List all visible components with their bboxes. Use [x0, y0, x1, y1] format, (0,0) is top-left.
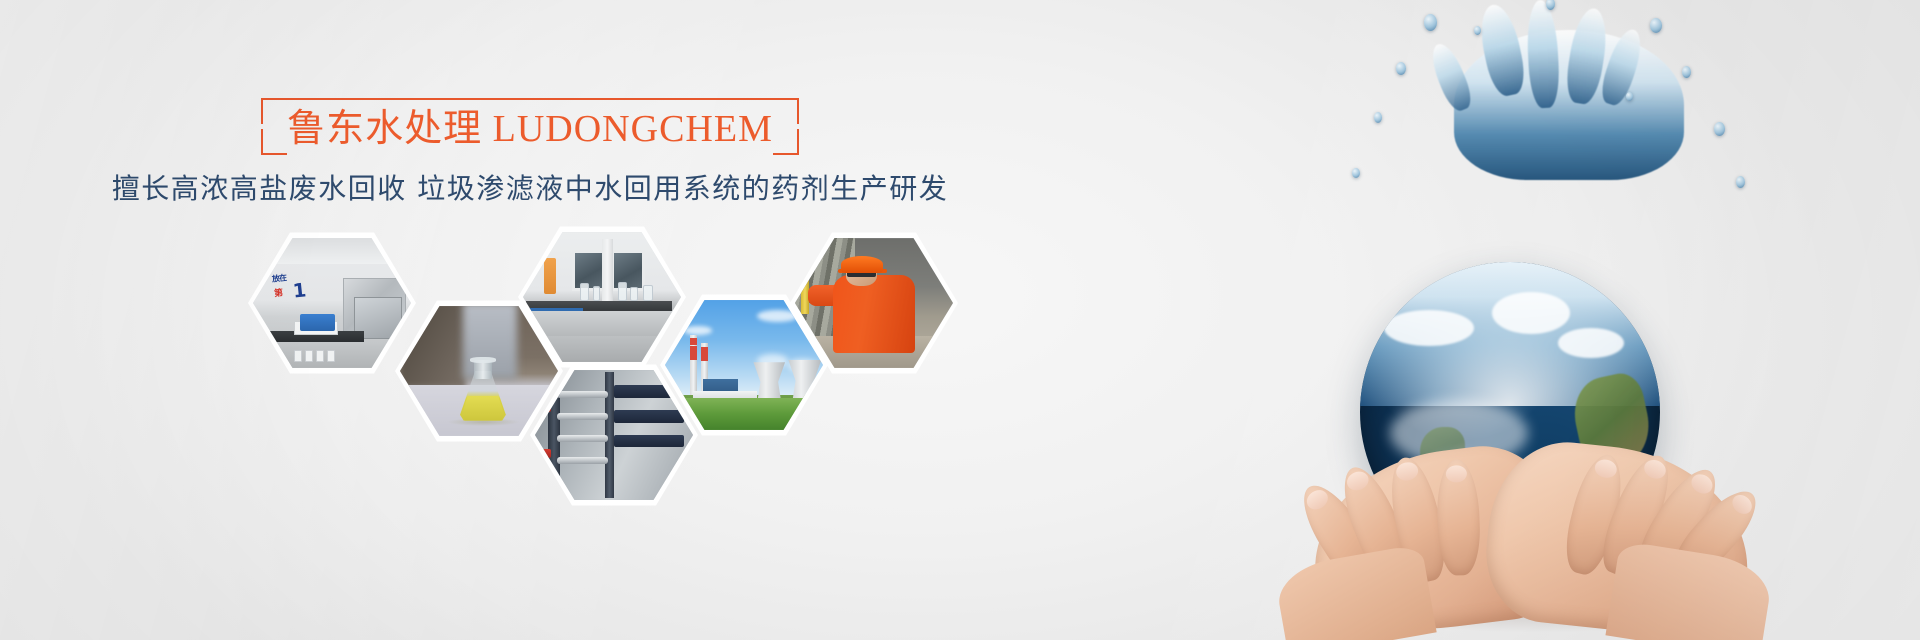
- left-wrist: [1273, 544, 1436, 640]
- hexagon-tile-lab-control-room[interactable]: 放在 第 1: [248, 228, 416, 378]
- hexagon-image-mask: 放在 第 1: [253, 234, 411, 372]
- right-wrist: [1605, 540, 1774, 640]
- photo-ro-membrane-skid: [535, 366, 693, 504]
- wall-slogan-mid: 第: [273, 286, 282, 300]
- hexagon-photo-cluster: 放在 第 1: [0, 0, 1000, 640]
- banner-root: 鲁东水处理 LUDONGCHEM 擅长高浓高盐废水回收 垃圾渗滤液中水回用系统的…: [0, 0, 1920, 640]
- water-globe-graphic: [1220, 0, 1920, 640]
- wall-slogan-number: 1: [291, 279, 306, 302]
- wall-slogan-top: 放在: [271, 272, 286, 284]
- hexagon-image-mask: [535, 366, 693, 504]
- photo-lab-control-room: 放在 第 1: [253, 234, 411, 372]
